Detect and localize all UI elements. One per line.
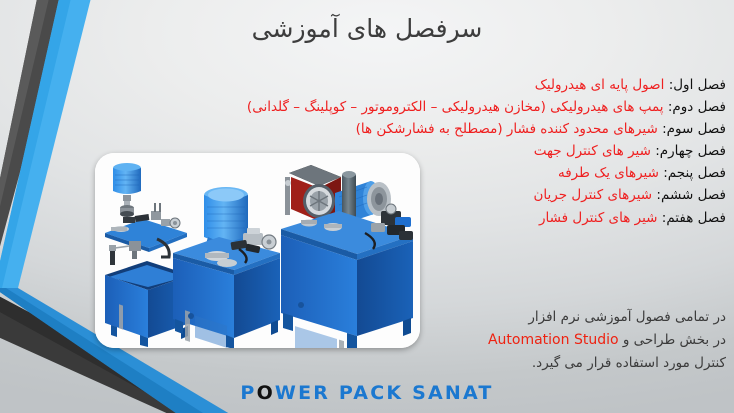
chapter-item-1: فصل اول: اصول پایه ای هیدرولیک (2, 74, 726, 96)
hydraulic-units-illustration (95, 153, 420, 348)
logo-text-o: O (257, 382, 275, 404)
company-logo: POWER PACK SANAT (0, 382, 734, 404)
chapter-text-7: شیر های کنترل فشار (539, 210, 657, 226)
chapter-label-6: فصل ششم: (656, 187, 726, 203)
slide-canvas: سرفصل های آموزشی فصل اول: اصول پایه ای ه… (0, 0, 734, 413)
hydraulic-power-units-photo (95, 153, 420, 348)
chapter-label-7: فصل هفتم: (662, 210, 726, 226)
chapter-text-2: پمپ های هیدرولیکی (مخازن هیدرولیکی – الک… (247, 99, 664, 115)
chapter-text-5: شیرهای یک طرفه (558, 165, 659, 181)
logo-text-after: WER PACK SANAT (275, 382, 494, 404)
chapter-text-3: شیرهای محدود کننده فشار (مصطلح به فشارشک… (356, 121, 658, 137)
chapter-label-4: فصل چهارم: (655, 143, 726, 159)
chapter-label-2: فصل دوم: (668, 99, 726, 115)
note-line-2-tail: در بخش طراحی و (623, 332, 726, 348)
chapter-text-4: شیر های کنترل جهت (534, 143, 651, 159)
chapter-item-3: فصل سوم: شیرهای محدود کننده فشار (مصطلح … (2, 118, 726, 140)
slide-title: سرفصل های آموزشی (0, 14, 734, 43)
chapter-label-1: فصل اول: (669, 77, 726, 93)
chapter-label-5: فصل پنجم: (663, 165, 726, 181)
chapter-item-2: فصل دوم: پمپ های هیدرولیکی (مخازن هیدرول… (2, 96, 726, 118)
chapter-text-1: اصول پایه ای هیدرولیک (535, 77, 665, 93)
chapter-text-6: شیرهای کنترل جریان (533, 187, 652, 203)
logo-text-before: P (240, 382, 256, 404)
chapter-label-3: فصل سوم: (662, 121, 726, 137)
note-line-3: کنترل مورد استفاده قرار می گیرد. (2, 352, 726, 375)
software-name: Automation Studio (488, 332, 619, 348)
